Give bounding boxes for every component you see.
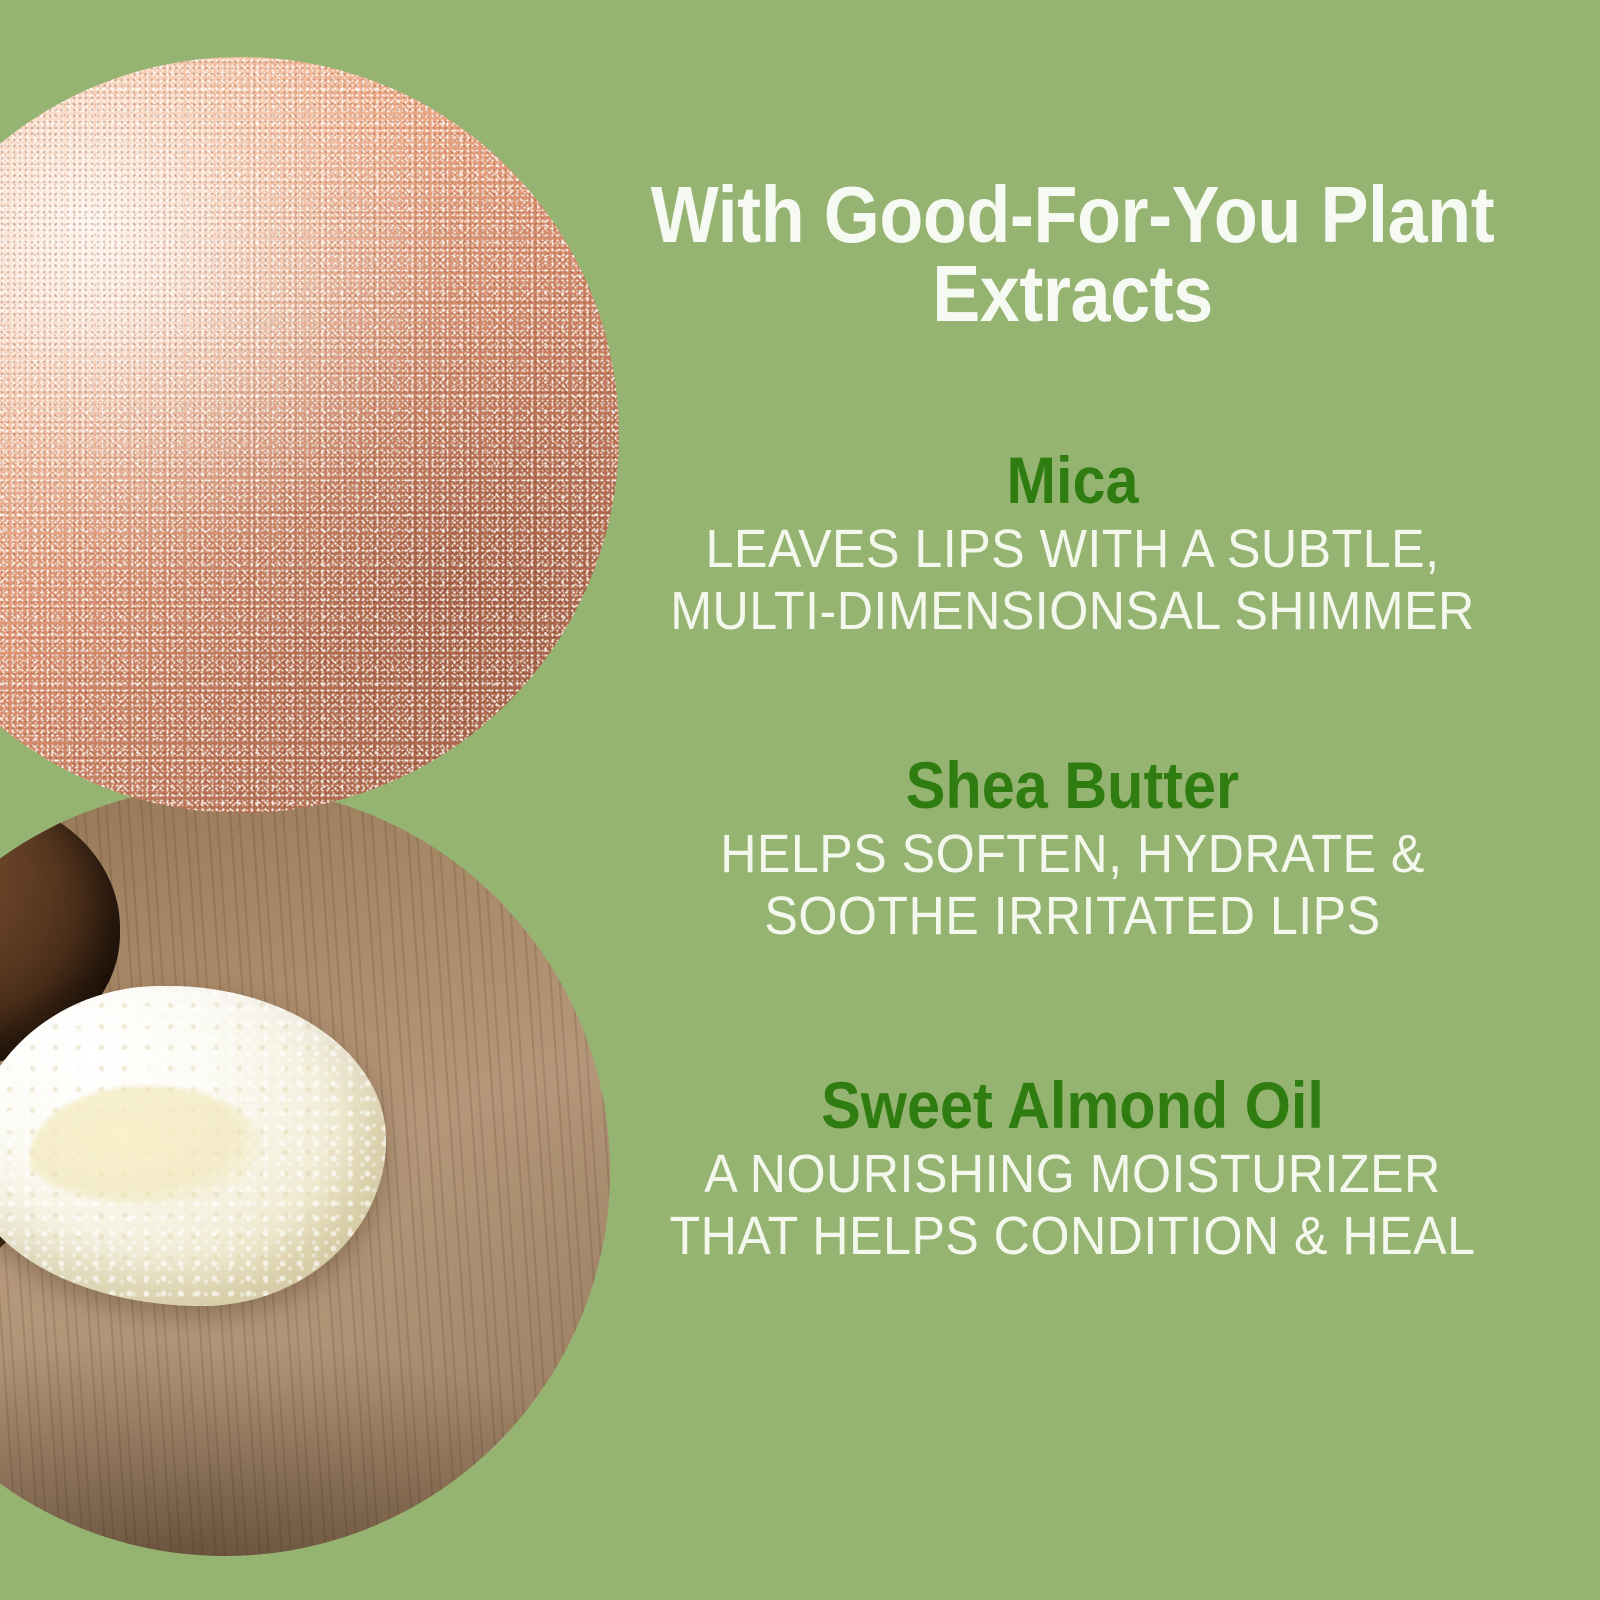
ingredient-description-almond: A NOURISHING MOISTURIZER THAT HELPS COND… <box>633 1144 1512 1267</box>
shea-image-shadow <box>0 786 610 1556</box>
ingredient-block-almond: Sweet Almond Oil A NOURISHING MOISTURIZE… <box>600 1072 1545 1267</box>
ingredient-description-mica: LEAVES LIPS WITH A SUBTLE, MULTI-DIMENSI… <box>633 519 1512 642</box>
ingredient-description-shea: HELPS SOFTEN, HYDRATE & SOOTHE IRRITATED… <box>633 824 1512 947</box>
ingredient-text-column: With Good-For-You Plant Extracts Mica LE… <box>600 0 1560 1600</box>
mica-glitter-image <box>0 57 619 813</box>
product-ingredients-infographic: With Good-For-You Plant Extracts Mica LE… <box>0 0 1600 1600</box>
ingredient-block-mica: Mica LEAVES LIPS WITH A SUBTLE, MULTI-DI… <box>600 447 1545 642</box>
ingredient-block-shea: Shea Butter HELPS SOFTEN, HYDRATE & SOOT… <box>600 752 1545 947</box>
ingredient-name-mica: Mica <box>647 447 1498 513</box>
mica-glitter-specks-secondary <box>0 57 619 813</box>
shea-butter-image <box>0 786 610 1556</box>
ingredient-name-shea: Shea Butter <box>647 752 1498 818</box>
ingredient-name-almond: Sweet Almond Oil <box>647 1072 1498 1138</box>
page-title: With Good-For-You Plant Extracts <box>647 175 1498 333</box>
